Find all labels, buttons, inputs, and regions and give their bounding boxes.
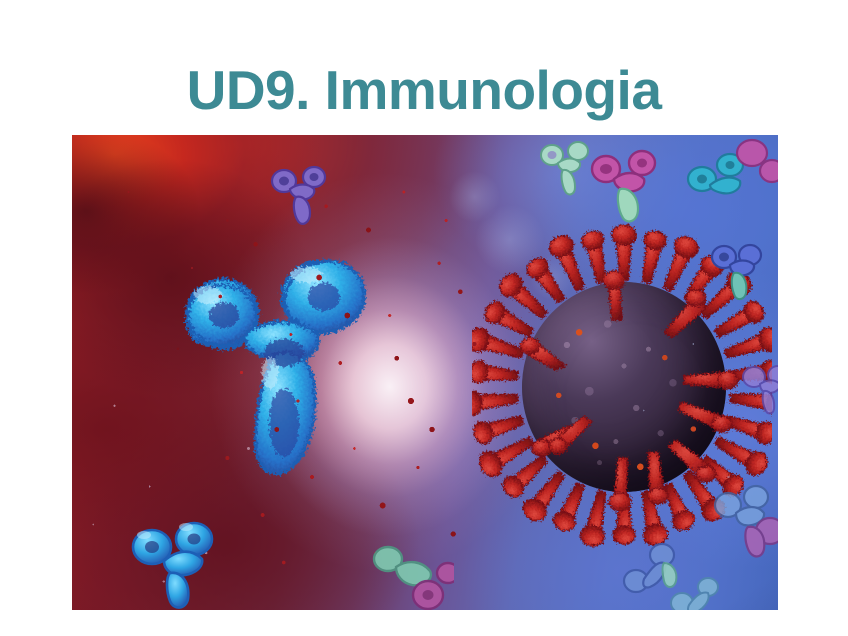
vignette-overlay bbox=[72, 135, 778, 610]
page-title: UD9. Immunologia bbox=[0, 58, 848, 122]
coronavirus-antibody-illustration bbox=[72, 135, 778, 610]
slide: UD9. Immunologia bbox=[0, 0, 848, 636]
